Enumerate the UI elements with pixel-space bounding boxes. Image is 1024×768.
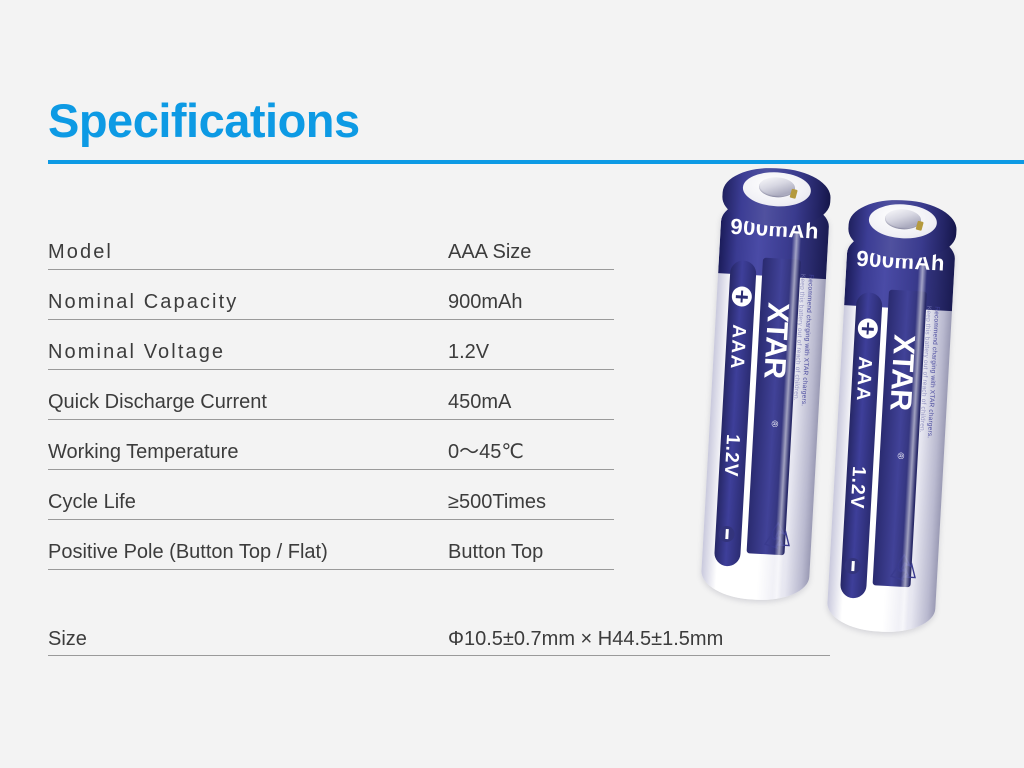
spec-label: Model <box>48 242 448 269</box>
table-row: Quick Discharge Current 450mA <box>48 370 614 420</box>
spec-label: Nominal Capacity <box>48 292 448 319</box>
spec-value: ≥500Times <box>448 492 614 519</box>
spec-label: Nominal Voltage <box>48 342 448 369</box>
battery-size-code: AAA <box>851 356 876 403</box>
spec-value: 0〜45℃ <box>448 442 614 469</box>
table-row: Cycle Life ≥500Times <box>48 470 614 520</box>
spec-sheet-page: Specifications Model AAA Size Nominal Ca… <box>0 0 1024 768</box>
registered-mark-icon: ® <box>770 420 780 427</box>
table-row: Nominal Voltage 1.2V <box>48 320 614 370</box>
battery-front: 900mAh AAA 1.2V XTAR ® Recommend chargin… <box>700 165 832 602</box>
spec-value: 450mA <box>448 392 614 419</box>
product-image: 900mAh AAA 1.2V XTAR ® Recommend chargin… <box>690 150 1024 650</box>
spec-label: Working Temperature <box>48 442 448 469</box>
spec-label: Size <box>48 629 448 655</box>
spec-value: Button Top <box>448 542 614 569</box>
recycle-icon <box>882 548 924 590</box>
spec-label: Cycle Life <box>48 492 448 519</box>
page-title: Specifications <box>48 96 360 145</box>
spec-value: 1.2V <box>448 342 614 369</box>
spec-value: 900mAh <box>448 292 614 319</box>
table-row: Positive Pole (Button Top / Flat) Button… <box>48 520 614 570</box>
battery-brand-logo: XTAR <box>882 334 920 411</box>
spec-value: AAA Size <box>448 242 614 269</box>
spec-label: Positive Pole (Button Top / Flat) <box>48 542 448 569</box>
battery-size-code: AAA <box>725 324 750 371</box>
specifications-table: Model AAA Size Nominal Capacity 900mAh N… <box>48 220 614 570</box>
battery-body: 900mAh AAA 1.2V XTAR ® Recommend chargin… <box>700 195 830 602</box>
table-row: Nominal Capacity 900mAh <box>48 270 614 320</box>
registered-mark-icon: ® <box>896 452 906 459</box>
table-row: Working Temperature 0〜45℃ <box>48 420 614 470</box>
battery-body: 900mAh AAA 1.2V XTAR ® Recommend chargin… <box>826 227 956 634</box>
battery-voltage-text: 1.2V <box>845 466 869 510</box>
battery-brand-logo: XTAR <box>756 302 794 379</box>
recycle-icon <box>756 516 798 558</box>
table-row: Model AAA Size <box>48 220 614 270</box>
spec-label: Quick Discharge Current <box>48 392 448 419</box>
title-block: Specifications <box>48 96 360 145</box>
battery-back: 900mAh AAA 1.2V XTAR ® Recommend chargin… <box>826 197 958 634</box>
battery-voltage-text: 1.2V <box>719 434 743 478</box>
